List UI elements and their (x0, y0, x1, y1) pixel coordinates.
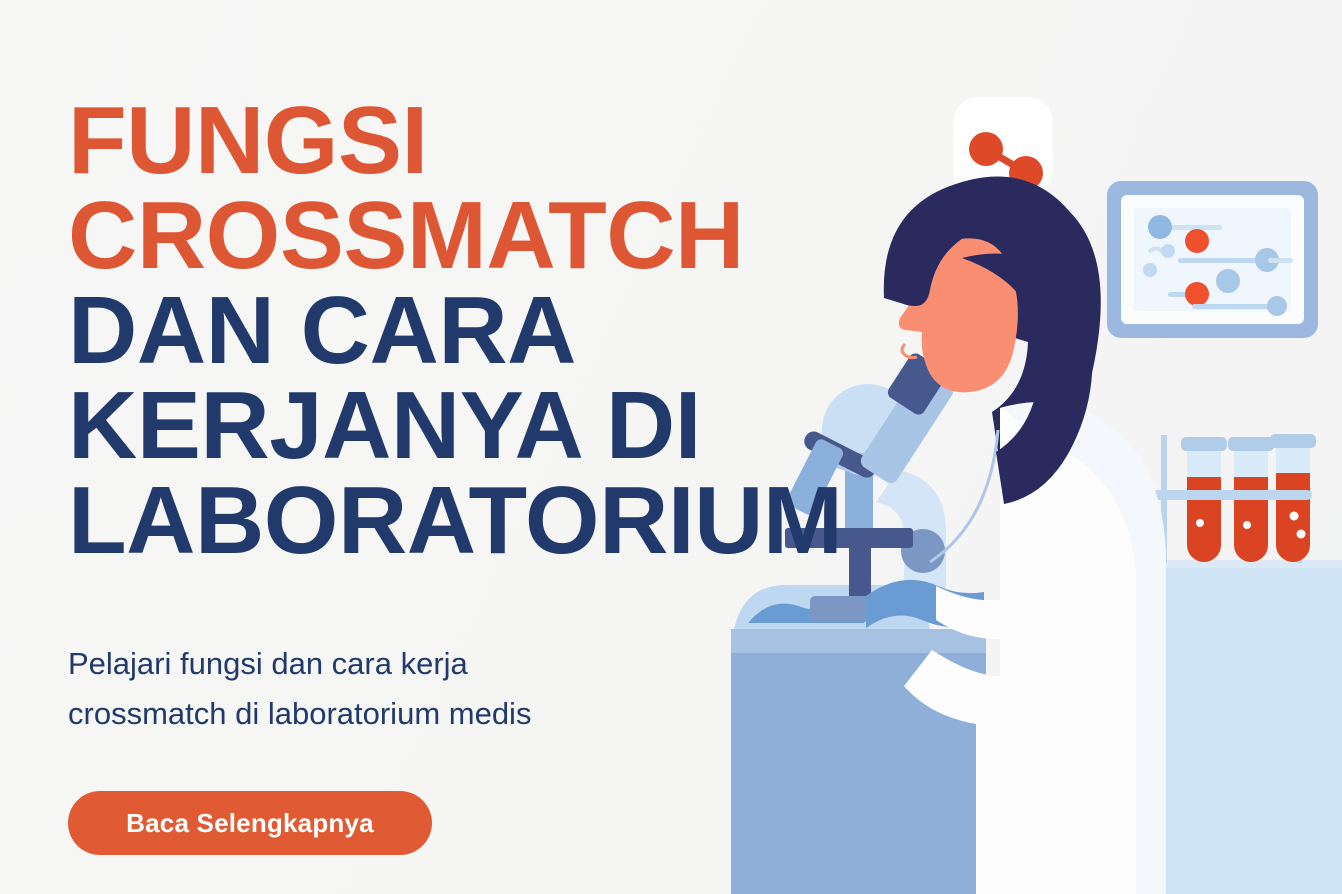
rack-bar (1150, 490, 1312, 500)
monitor-dot-red-1 (1185, 229, 1209, 253)
headline-line-5: LABORATORIUM (68, 473, 768, 568)
tube-cap-1 (1181, 437, 1227, 451)
monitor-dot-blue-4 (1267, 296, 1287, 316)
lab-illustration (700, 0, 1342, 894)
lab-monitor (1107, 181, 1318, 338)
promo-banner: FUNGSI CROSSMATCH DAN CARA KERJANYA DI L… (0, 0, 1342, 894)
headline-line-3: DAN CARA (68, 283, 768, 378)
molecule-node-1 (969, 132, 1003, 166)
tube-cap-2 (1228, 437, 1274, 451)
headline-line-2: CROSSMATCH (68, 188, 768, 283)
tube-cap-3 (1270, 434, 1316, 448)
headline-line-1: FUNGSI (68, 93, 768, 188)
subtitle-text: Pelajari fungsi dan cara kerja crossmatc… (68, 639, 608, 739)
monitor-dot-blue-3 (1216, 269, 1240, 293)
read-more-button[interactable]: Baca Selengkapnya (68, 791, 432, 855)
text-column: FUNGSI CROSSMATCH DAN CARA KERJANYA DI L… (68, 0, 768, 894)
monitor-dot-red-2 (1185, 282, 1209, 306)
headline-line-4: KERJANYA DI (68, 378, 768, 473)
page-title: FUNGSI CROSSMATCH DAN CARA KERJANYA DI L… (68, 93, 768, 568)
test-tube-rack (1150, 434, 1316, 563)
monitor-dot-blue-1 (1148, 215, 1172, 239)
